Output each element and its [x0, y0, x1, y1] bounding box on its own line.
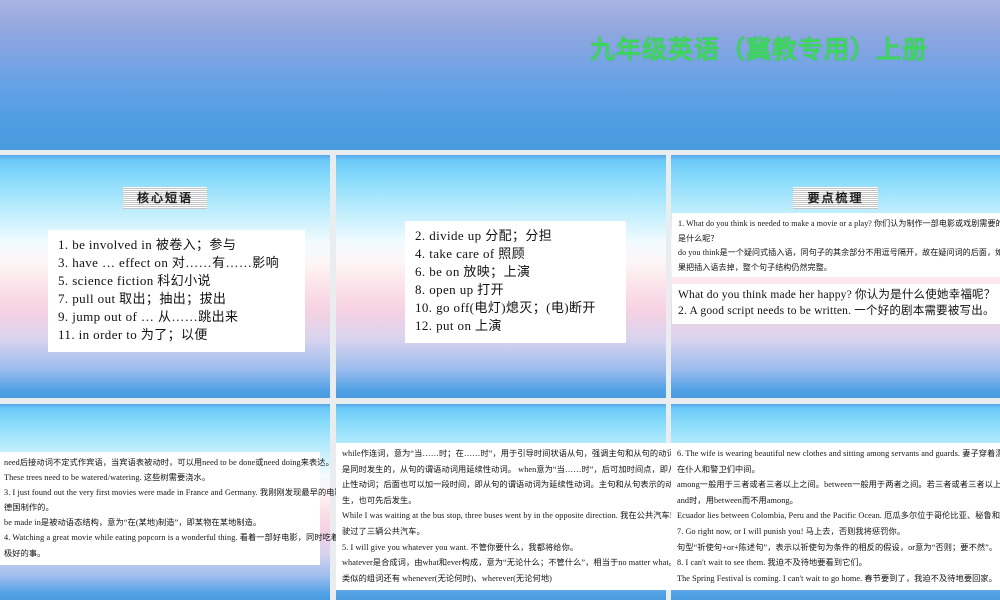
note-line: 是同时发生的，从句的谓语动词用延续性动词。 when意为“当……时”，后可加时间…: [342, 462, 667, 478]
note-line: need后接动词不定式作宾语，当宾语表被动时，可以用need to be don…: [4, 455, 314, 470]
note-line: 在仆人和警卫们中间。: [677, 462, 1000, 478]
note-line: while作连词，意为“当……时；在……时”，用于引导时间状语从句，强调主句和从…: [342, 446, 667, 462]
list-item: 6. be on 放映；上演: [415, 263, 616, 281]
phrase-list-even-card: 2. divide up 分配；分担 4. take care of 照顾 6.…: [405, 221, 626, 343]
key-point-note-card: 1. What do you think is needed to make a…: [672, 213, 1000, 277]
note-line: 8. I can't wait to see them. 我迫不及待地要看到它们…: [677, 555, 1000, 571]
page-title: 九年级英语（冀教专用）上册: [590, 30, 928, 66]
list-item: 12. put on 上演: [415, 317, 616, 335]
slide-root: 九年级英语（冀教专用）上册 核心短语 1. be involved in 被卷入…: [0, 0, 1000, 600]
section-title-core-phrases-wrap: 核心短语: [0, 187, 330, 209]
note-line: 句型“祈使句+or+陈述句”，表示以祈使句为条件的相反的假设，or意为“否则；要…: [677, 540, 1000, 556]
note-line: 止性动词；后面也可以加一段时间，即从句的谓语动词为延续性动词。主句和从句表示的动…: [342, 477, 667, 493]
list-item: 10. go off(电灯)熄灭；(电)断开: [415, 299, 616, 317]
phrase-list-odd-card: 1. be involved in 被卷入；参与 3. have … effec…: [48, 230, 305, 352]
note-line: and时，用between而不用among。: [677, 493, 1000, 509]
note-line: 生，也可先后发生。: [342, 493, 667, 509]
note-line: 5. I will give you whatever you want. 不管…: [342, 540, 667, 556]
note-line: While I was waiting at the bus stop, thr…: [342, 508, 667, 524]
bottom-left-note-card: need后接动词不定式作宾语，当宾语表被动时，可以用need to be don…: [0, 452, 320, 565]
list-item: 11. in order to 为了；以便: [58, 326, 295, 344]
list-item: 3. have … effect on 对……有……影响: [58, 254, 295, 272]
key-point-example-card: What do you think made her happy? 你认为是什么…: [672, 284, 1000, 324]
note-line: 德国制作的。: [4, 500, 314, 515]
note-line: 类似的组词还有 whenever(无论何时)、wherever(无论何地): [342, 571, 667, 587]
section-title-core-phrases: 核心短语: [123, 187, 207, 209]
example-line: 2. A good script needs to be written. 一个…: [678, 303, 1000, 319]
note-line: whatever是合成词，由what和ever构成，意为“无论什么；不管什么”，…: [342, 555, 667, 571]
note-line: 6. The wife is wearing beautiful new clo…: [677, 446, 1000, 462]
list-item: 1. be involved in 被卷入；参与: [58, 236, 295, 254]
list-item: 8. open up 打开: [415, 281, 616, 299]
bottom-right-note-card: 6. The wife is wearing beautiful new clo…: [671, 443, 1000, 590]
example-line: What do you think made her happy? 你认为是什么…: [678, 287, 1000, 303]
note-line: 1. What do you think is needed to make a…: [678, 217, 1000, 246]
list-item: 4. take care of 照顾: [415, 245, 616, 263]
note-line: 极好的事。: [4, 546, 314, 561]
list-item: 2. divide up 分配；分担: [415, 227, 616, 245]
note-line: 4. Watching a great movie while eating p…: [4, 530, 314, 545]
list-item: 9. jump out of … 从……跳出来: [58, 308, 295, 326]
note-line: be made in是被动语态结构，意为“在(某地)制造”，即某物在某地制造。: [4, 515, 314, 530]
note-line: 3. I just found out the very first movie…: [4, 485, 314, 500]
note-line: 7. Go right now, or I will punish you! 马…: [677, 524, 1000, 540]
bottom-middle-note-card: while作连词，意为“当……时；在……时”，用于引导时间状语从句，强调主句和从…: [336, 443, 673, 590]
note-line: The Spring Festival is coming. I can't w…: [677, 571, 1000, 587]
section-title-key-points: 要点梳理: [793, 187, 877, 209]
note-line: These trees need to be watered/watering.…: [4, 470, 314, 485]
list-item: 7. pull out 取出；抽出；拔出: [58, 290, 295, 308]
note-line: 驶过了三辆公共汽车。: [342, 524, 667, 540]
section-title-key-points-wrap: 要点梳理: [671, 187, 1000, 209]
note-line: do you think是一个疑问式插入语，同句子的其余部分不用逗号隔开，故在疑…: [678, 246, 1000, 275]
list-item: 5. science fiction 科幻小说: [58, 272, 295, 290]
note-line: among一般用于三者或者三者以上之间。between一般用于两者之间。若三者或…: [677, 477, 1000, 493]
top-banner: 九年级英语（冀教专用）上册: [0, 0, 1000, 150]
note-line: Ecuador lies between Colombia, Peru and …: [677, 508, 1000, 524]
